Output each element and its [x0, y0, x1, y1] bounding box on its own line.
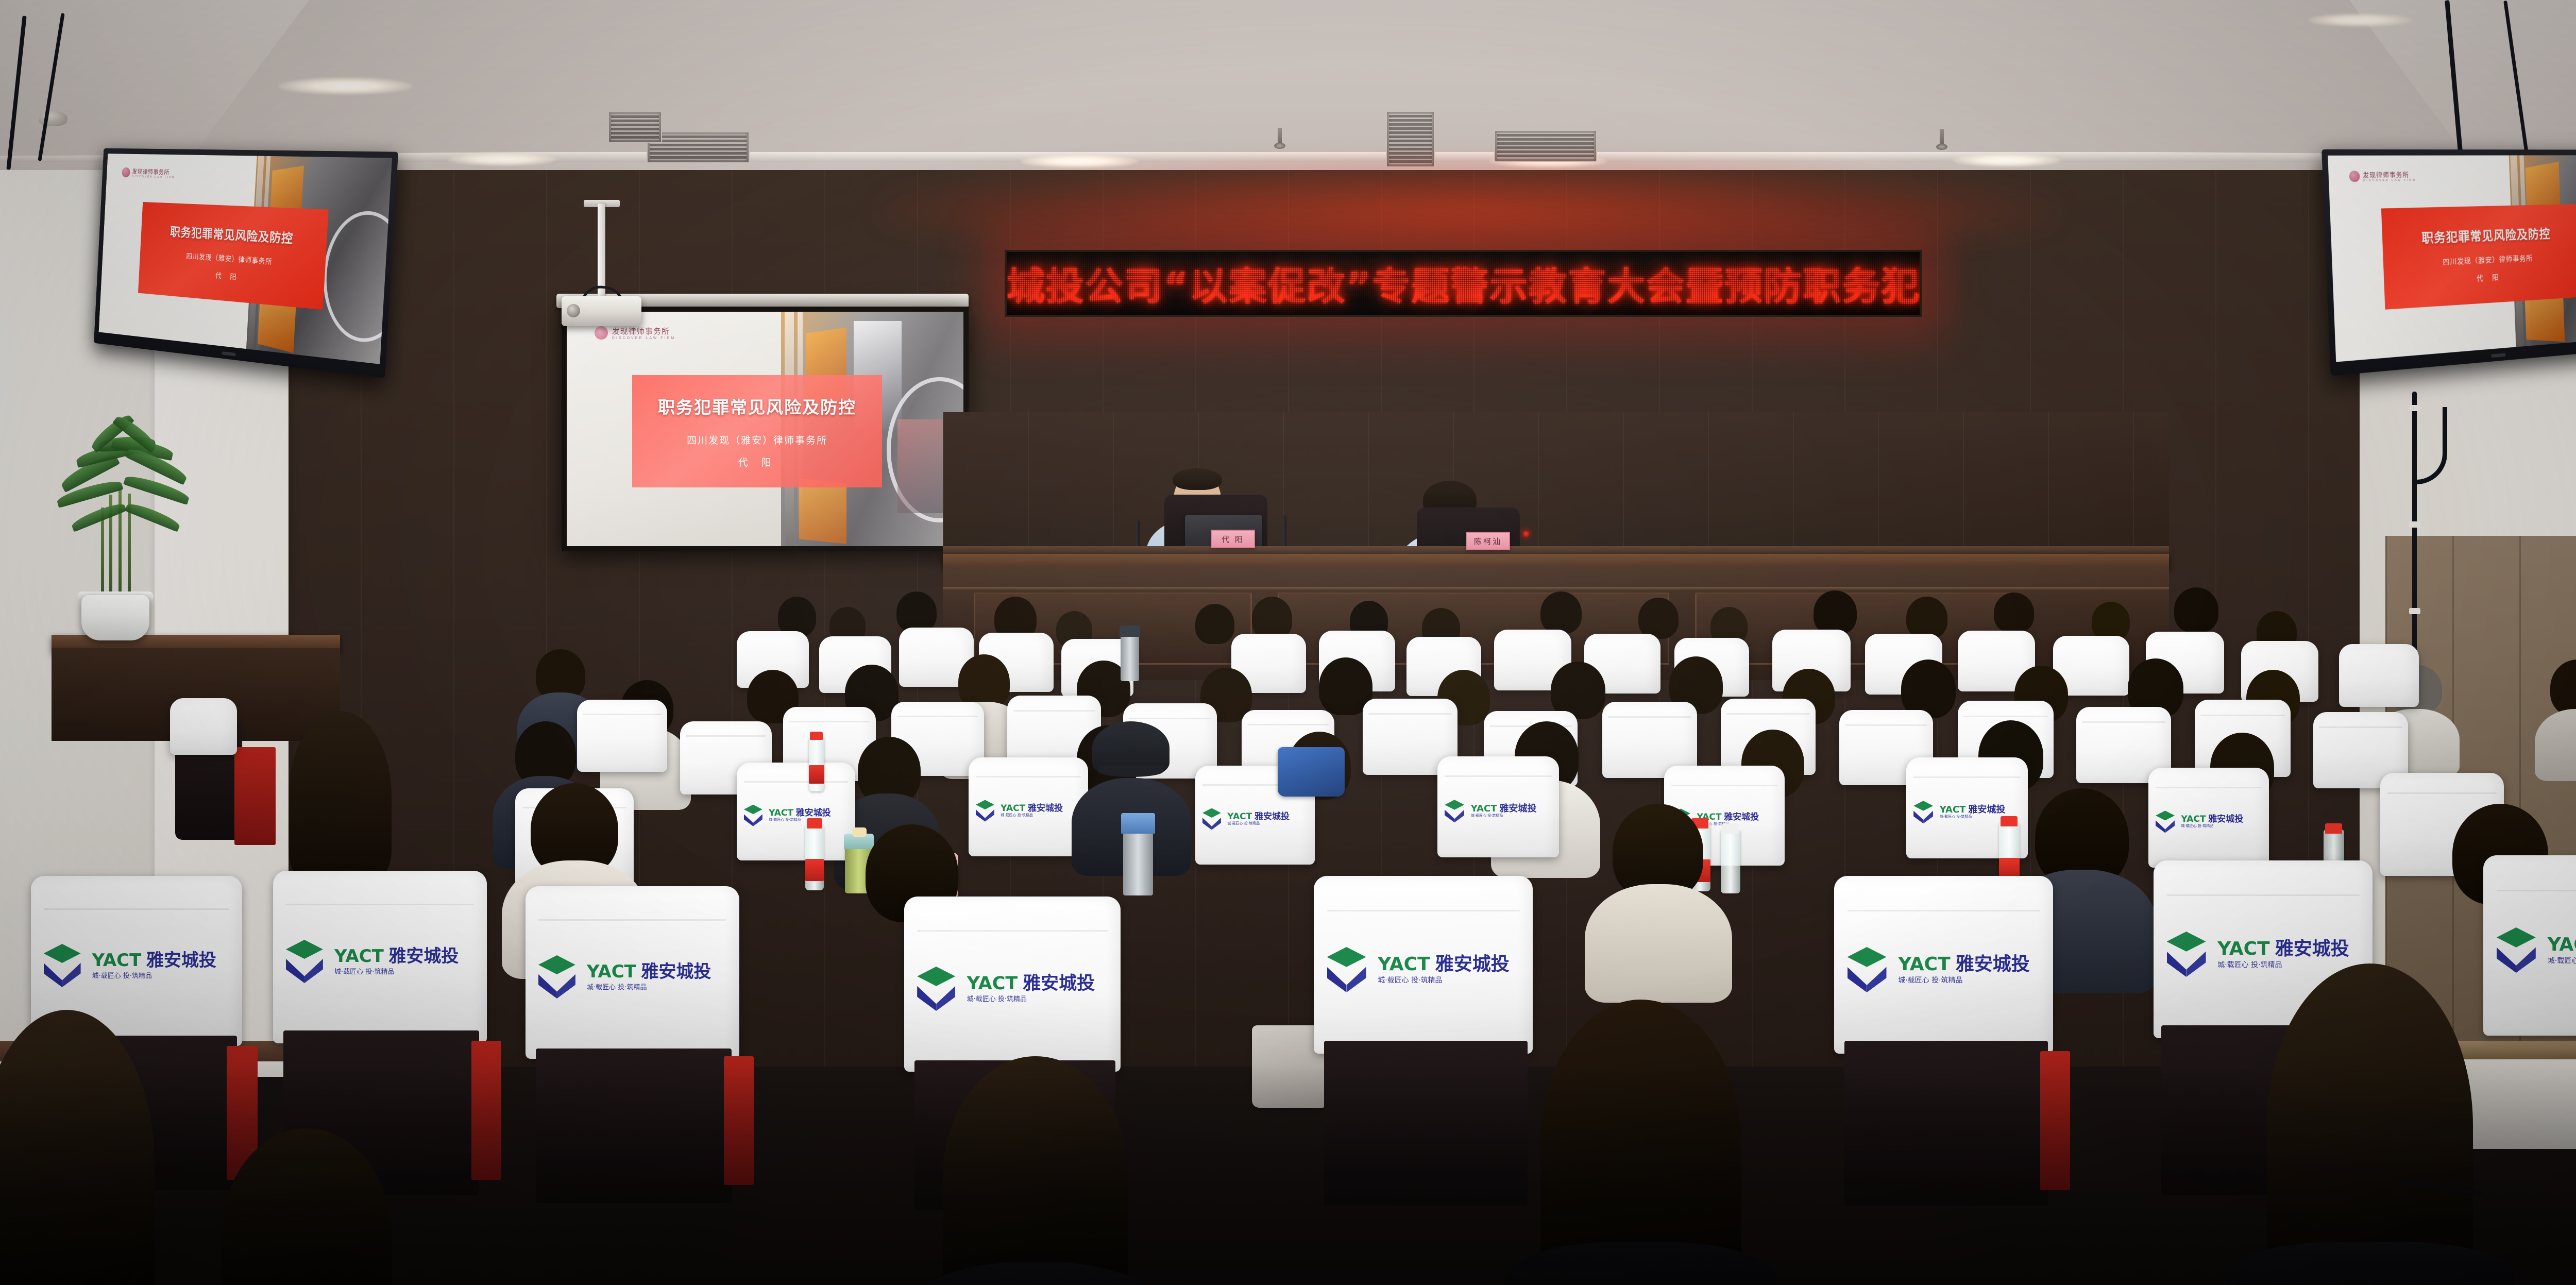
firm-logo-subtext: DISCOVER LAW FIRM	[2363, 179, 2416, 182]
water-bottle-cap	[1722, 823, 1739, 834]
water-bottle	[805, 824, 824, 890]
vent-slats	[650, 134, 747, 160]
water-bottle	[809, 737, 824, 791]
name-card-host: 陈柯汕	[1466, 532, 1510, 550]
tv-left-bezel-indicator	[222, 351, 236, 357]
tv-display-right: 发现律师事务所 DISCOVER LAW FIRM 职务犯罪常见风险及防控 四川…	[2321, 149, 2576, 376]
water-bottle-label	[805, 859, 824, 882]
thermos-flask	[1121, 634, 1139, 681]
empty-theater-seat-cushion	[234, 747, 276, 845]
thermos-lid	[1121, 813, 1155, 834]
tv-left-slide: 发现律师事务所 DISCOVER LAW FIRM 职务犯罪常见风险及防控 四川…	[99, 154, 392, 364]
chair-with-logo: YACT 雅安城投 城·载匠心 投·筑精品	[273, 871, 487, 1043]
water-bottle-label	[809, 765, 824, 784]
tv-left-title-overlay: 职务犯罪常见风险及防控 四川发现（雅安）律师事务所 代 阳	[138, 202, 328, 310]
tv-right-screen: 发现律师事务所 DISCOVER LAW FIRM 职务犯罪常见风险及防控 四川…	[2328, 155, 2576, 362]
vent-slats	[611, 114, 659, 140]
sprinkler-head-2	[1940, 129, 1944, 146]
cable-clip-3	[2409, 608, 2420, 614]
slide-title-overlay: 职务犯罪常见风险及防控 四川发现（雅安）律师事务所 代 阳	[632, 375, 882, 487]
ceiling-vent-left	[647, 131, 750, 163]
tv-left-screen: 发现律师事务所 DISCOVER LAW FIRM 职务犯罪常见风险及防控 四川…	[99, 154, 392, 364]
chair-with-logo: YACT 雅安城投 城·载匠心 投·筑精品	[1314, 876, 1533, 1054]
tv-left-slide-speaker: 代 阳	[215, 270, 240, 282]
firm-logo-mark-icon	[2349, 171, 2361, 182]
chair-with-logo: YACT 雅安城投 城·载匠心 投·筑精品	[904, 897, 1121, 1072]
slide-firm-logo: 发现律师事务所 DISCOVER LAW FIRM	[595, 326, 675, 340]
chair-with-logo: YACT 雅安城投 城·载匠心 投·筑精品	[1834, 876, 2053, 1054]
chair-with-logo: YACT 雅安城投 城·载匠心 投·筑精品	[2483, 855, 2576, 1036]
tv-right-firm-logo: 发现律师事务所 DISCOVER LAW FIRM	[2349, 170, 2416, 183]
tv-left-firm-logo: 发现律师事务所 DISCOVER LAW FIRM	[122, 166, 176, 179]
chair-with-logo: YACT 雅安城投 城·载匠心 投·筑精品	[969, 757, 1088, 856]
thermos-flask	[1123, 830, 1153, 895]
tv-right-slide-title: 职务犯罪常见风险及防控	[2421, 224, 2551, 246]
downlight-7	[278, 77, 412, 95]
ceiling-vent-far-left	[608, 111, 662, 143]
downlight-6	[2308, 13, 2411, 27]
tv-right-slide-speaker: 代 阳	[2477, 272, 2502, 283]
led-banner: 城投公司“以案促改”专题警示教育大会暨预防职务犯罪纪法讲座	[1005, 250, 1922, 317]
tv-display-left: 发现律师事务所 DISCOVER LAW FIRM 职务犯罪常见风险及防控 四川…	[94, 148, 398, 378]
water-bottle-cap	[810, 732, 823, 740]
firm-logo-subtext: DISCOVER LAW FIRM	[612, 336, 675, 340]
chair-with-logo: YACT 雅安城投 城·载匠心 投·筑精品	[737, 763, 855, 860]
water-bottle-cap	[2325, 823, 2342, 834]
slide-organization: 四川发现（雅安）律师事务所	[687, 433, 827, 447]
slide-title: 职务犯罪常见风险及防控	[658, 394, 856, 418]
chair-with-logo: YACT 雅安城投 城·载匠心 投·筑精品	[526, 886, 739, 1059]
plant-pot	[81, 595, 149, 640]
security-camera	[39, 111, 67, 126]
firm-logo-mark-icon	[595, 326, 608, 340]
conference-hall-photo: 城投公司“以案促改”专题警示教育大会暨预防职务犯罪纪法讲座 发现律师事务所 DI…	[0, 0, 2576, 1285]
covered-chair-side	[170, 698, 237, 755]
water-bottle	[1721, 830, 1740, 893]
microphone-active-indicator	[1523, 531, 1529, 537]
podium-moulding	[943, 587, 2169, 590]
chair-with-logo: YACT 雅安城投 城·载匠心 投·筑精品	[1437, 756, 1559, 857]
name-card-speaker: 代 阳	[1211, 530, 1255, 548]
projector-lens-icon	[567, 304, 580, 317]
handbag-blue	[1278, 747, 1345, 797]
firm-logo-text: 发现律师事务所	[612, 326, 675, 336]
tv-right-bezel-indicator	[2491, 353, 2506, 358]
water-bottle-cap	[2001, 816, 2018, 826]
theater-seat-body	[536, 1049, 732, 1203]
cable-clip-1	[2409, 405, 2420, 411]
tea-tumbler-knob	[852, 827, 867, 837]
slide-speaker-name: 代 阳	[738, 455, 776, 469]
thermos-lid	[1120, 625, 1140, 637]
chair-logo-name: 雅安城投	[796, 809, 831, 818]
firm-logo-subtext: DISCOVER LAW FIRM	[132, 175, 175, 179]
tv-left-slide-org: 四川发现（雅安）律师事务所	[186, 250, 273, 266]
tv-right-slide-org: 四川发现（雅安）律师事务所	[2443, 252, 2533, 267]
projection-screen-surface: 发现律师事务所 DISCOVER LAW FIRM 职务犯罪常见风险及防控 四川…	[567, 312, 963, 546]
downlight-2	[448, 153, 556, 166]
firm-logo-text: 发现律师事务所	[2363, 170, 2416, 179]
firm-logo-mark-icon	[122, 167, 130, 177]
led-banner-text: 城投公司“以案促改”专题警示教育大会暨预防职务犯罪纪法讲座	[1007, 256, 1920, 311]
tv-left-slide-title: 职务犯罪常见风险及防控	[170, 222, 294, 247]
cable-clip-2	[2409, 521, 2420, 528]
ceiling-center-panel	[170, 0, 2488, 155]
theater-seat-side-panel	[2040, 1051, 2070, 1190]
speaker-male-hair	[1173, 468, 1222, 490]
theater-seat-side-panel	[724, 1056, 754, 1185]
sprinkler-head-1	[1278, 128, 1282, 145]
chair-with-logo: YACT 雅安城投 城·载匠心 投·筑精品	[2148, 768, 2269, 868]
theater-seat-body	[1844, 1041, 2048, 1206]
tv-right-slide: 发现律师事务所 DISCOVER LAW FIRM 职务犯罪常见风险及防控 四川…	[2328, 155, 2576, 362]
chair-logo-abbr: YACT	[769, 809, 793, 818]
theater-seat-side-panel	[471, 1041, 501, 1180]
projection-screen: 发现律师事务所 DISCOVER LAW FIRM 职务犯罪常见风险及防控 四川…	[562, 307, 969, 551]
water-bottle-cap	[807, 818, 822, 829]
theater-seat-body	[1324, 1041, 1528, 1206]
tv-right-title-overlay: 职务犯罪常见风险及防控 四川发现（雅安）律师事务所 代 阳	[2381, 204, 2576, 309]
